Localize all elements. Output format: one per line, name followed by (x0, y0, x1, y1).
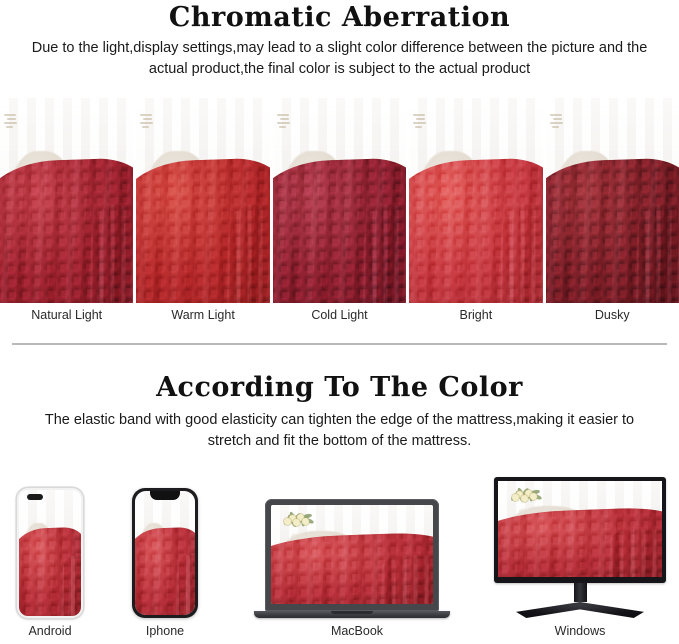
device-preview-row (0, 468, 679, 618)
device-mockup-macbook (265, 499, 450, 618)
blanket-drape (498, 204, 542, 303)
room-background (136, 98, 269, 303)
monitor-frame (494, 477, 666, 583)
room-background (409, 98, 542, 303)
color-section-subtitle: The elastic band with good elasticity ca… (0, 410, 679, 452)
section-divider (12, 343, 667, 345)
laptop-screen (271, 505, 433, 604)
blanket-drape (89, 204, 133, 303)
chromatic-title: Chromatic Aberration (0, 2, 679, 33)
blanket-drape (609, 528, 662, 577)
blanket (19, 527, 80, 616)
room-background (273, 98, 406, 303)
device-caption: Windows (520, 624, 640, 638)
lighting-panel-bright (409, 98, 542, 303)
device-caption: Iphone (105, 624, 225, 638)
brand-watermark-icon (4, 112, 20, 138)
blanket (136, 157, 269, 303)
lighting-caption: Dusky (546, 303, 679, 329)
room-background (271, 505, 433, 604)
brand-watermark-icon (550, 112, 566, 138)
lighting-caption: Cold Light (273, 303, 406, 329)
lighting-panel-natural-light (0, 98, 133, 303)
blanket-drape (175, 555, 195, 615)
monitor-neck (574, 583, 587, 602)
blanket (0, 157, 133, 303)
lighting-panel-cold-light (273, 98, 406, 303)
device-caption: MacBook (297, 624, 417, 638)
blanket-drape (226, 204, 270, 303)
lighting-panel-warm-light (136, 98, 269, 303)
blanket-drape (362, 204, 406, 303)
blanket (546, 157, 679, 303)
lighting-comparison-strip (0, 98, 679, 303)
phone-body (17, 488, 83, 618)
brand-watermark-icon (277, 112, 293, 138)
blanket (271, 531, 433, 604)
brand-watermark-icon (413, 112, 429, 138)
room-background (135, 491, 195, 615)
blanket (409, 157, 542, 303)
blanket-drape (635, 204, 679, 303)
phone-screen (19, 490, 80, 615)
room-background (19, 490, 80, 615)
blanket-drape (380, 554, 433, 604)
phone-body (132, 488, 198, 618)
device-mockup-windows (494, 477, 666, 618)
room-background (498, 481, 662, 577)
chromatic-subtitle: Due to the light,display settings,may le… (0, 38, 679, 80)
laptop-lid (265, 499, 439, 611)
blanket (273, 157, 406, 303)
phone-screen (135, 491, 195, 615)
device-caption-row: AndroidIphoneMacBookWindows (0, 624, 679, 644)
device-caption: Android (0, 624, 110, 638)
lighting-caption-row: Natural LightWarm LightCold LightBrightD… (0, 303, 679, 329)
lighting-caption: Natural Light (0, 303, 133, 329)
monitor-screen (498, 481, 662, 577)
blanket (498, 506, 662, 577)
product-detail-page: Chromatic Aberration Due to the light,di… (0, 0, 679, 644)
laptop-base (254, 611, 450, 618)
camera-cutout-icon (27, 494, 43, 500)
device-mockup-iphone (132, 488, 198, 618)
blanket (135, 527, 195, 615)
lighting-panel-dusky (546, 98, 679, 303)
room-background (546, 98, 679, 303)
room-background (0, 98, 133, 303)
blanket-drape (60, 555, 80, 615)
monitor-stand (516, 602, 644, 618)
lighting-caption: Bright (409, 303, 542, 329)
brand-watermark-icon (140, 112, 156, 138)
lighting-caption: Warm Light (136, 303, 269, 329)
notch-icon (150, 491, 180, 500)
color-section-title: According To The Color (0, 372, 679, 403)
device-mockup-android (17, 488, 83, 618)
